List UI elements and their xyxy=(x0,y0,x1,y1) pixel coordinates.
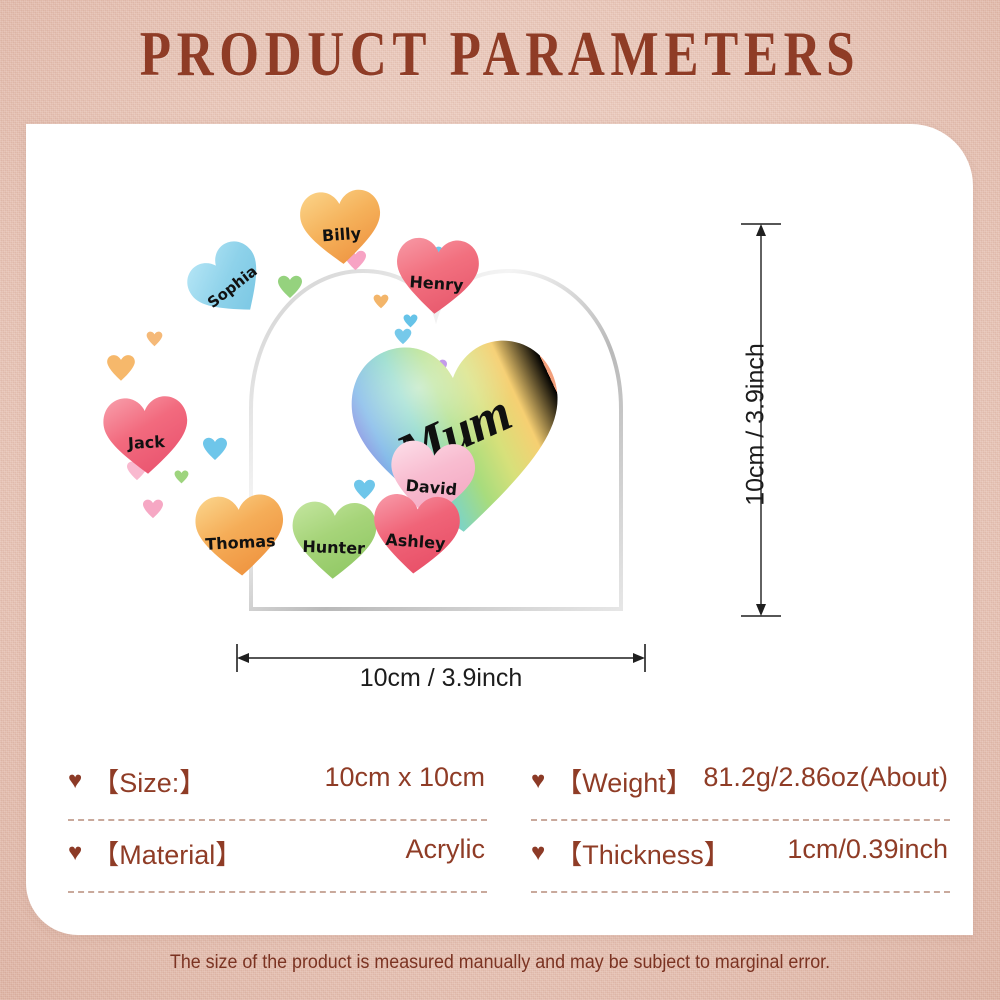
spec-key-label: 【Thickness】 xyxy=(555,833,731,872)
spec-row-weight: ♥ 【Weight】 81.2g/2.86oz(About) xyxy=(513,749,956,821)
spec-column-right: ♥ 【Weight】 81.2g/2.86oz(About) ♥ 【Thickn… xyxy=(513,749,956,893)
spec-row-size: ♥ 【Size:】 10cm x 10cm xyxy=(50,749,493,821)
spec-row-thickness: ♥ 【Thickness】 1cm/0.39inch xyxy=(513,821,956,893)
heart-bullet-icon: ♥ xyxy=(531,841,545,865)
heart-bullet-icon: ♥ xyxy=(531,769,545,793)
spec-table: ♥ 【Size:】 10cm x 10cm ♥ 【Material】 Acryl… xyxy=(26,749,973,929)
name-heart-thomas: Thomas xyxy=(192,490,288,581)
spec-column-left: ♥ 【Size:】 10cm x 10cm ♥ 【Material】 Acryl… xyxy=(50,749,493,893)
name-label: Billy xyxy=(296,185,386,277)
heart-bullet-icon: ♥ xyxy=(68,841,82,865)
content-card: Mum Billy Sophia xyxy=(26,124,973,935)
spec-value: Acrylic xyxy=(406,834,486,865)
name-heart-jack: Jack xyxy=(100,392,192,478)
spec-key-label: 【Material】 xyxy=(92,833,242,872)
spec-divider xyxy=(68,891,487,893)
name-heart-henry: Henry xyxy=(391,233,482,319)
spec-value: 10cm x 10cm xyxy=(324,762,485,793)
decorative-heart xyxy=(146,331,163,352)
name-label: Ashley xyxy=(368,489,464,587)
name-heart-billy: Billy xyxy=(296,185,385,269)
spec-key: ♥ 【Size:】 xyxy=(68,761,206,800)
decorative-heart xyxy=(142,499,164,524)
spec-key: ♥ 【Material】 xyxy=(68,833,242,872)
page-title: PRODUCT PARAMETERS xyxy=(100,22,900,86)
heart-bullet-icon: ♥ xyxy=(68,769,82,793)
spec-key: ♥ 【Thickness】 xyxy=(531,833,731,872)
name-label: Henry xyxy=(391,233,483,327)
name-label: Thomas xyxy=(192,490,289,589)
footer-disclaimer: The size of the product is measured manu… xyxy=(30,952,970,974)
product-preview: Mum Billy Sophia xyxy=(26,124,973,684)
width-dimension-label: 10cm / 3.9inch xyxy=(231,664,651,693)
name-heart-hunter: Hunter xyxy=(289,497,380,582)
decorative-heart xyxy=(202,437,228,466)
spec-value: 1cm/0.39inch xyxy=(787,834,948,865)
spec-key-label: 【Weight】 xyxy=(555,761,693,800)
name-heart-ashley: Ashley xyxy=(368,489,464,579)
spec-value: 81.2g/2.86oz(About) xyxy=(703,762,948,793)
name-label: Jack xyxy=(100,392,193,486)
decorative-heart xyxy=(106,354,136,387)
height-dimension-label: 10cm / 3.9inch xyxy=(742,335,771,515)
spec-divider xyxy=(531,891,950,893)
spec-key: ♥ 【Weight】 xyxy=(531,761,693,800)
spec-row-material: ♥ 【Material】 Acrylic xyxy=(50,821,493,893)
decorative-heart xyxy=(373,294,389,314)
name-label: Hunter xyxy=(288,497,379,590)
spec-key-label: 【Size:】 xyxy=(92,761,206,800)
